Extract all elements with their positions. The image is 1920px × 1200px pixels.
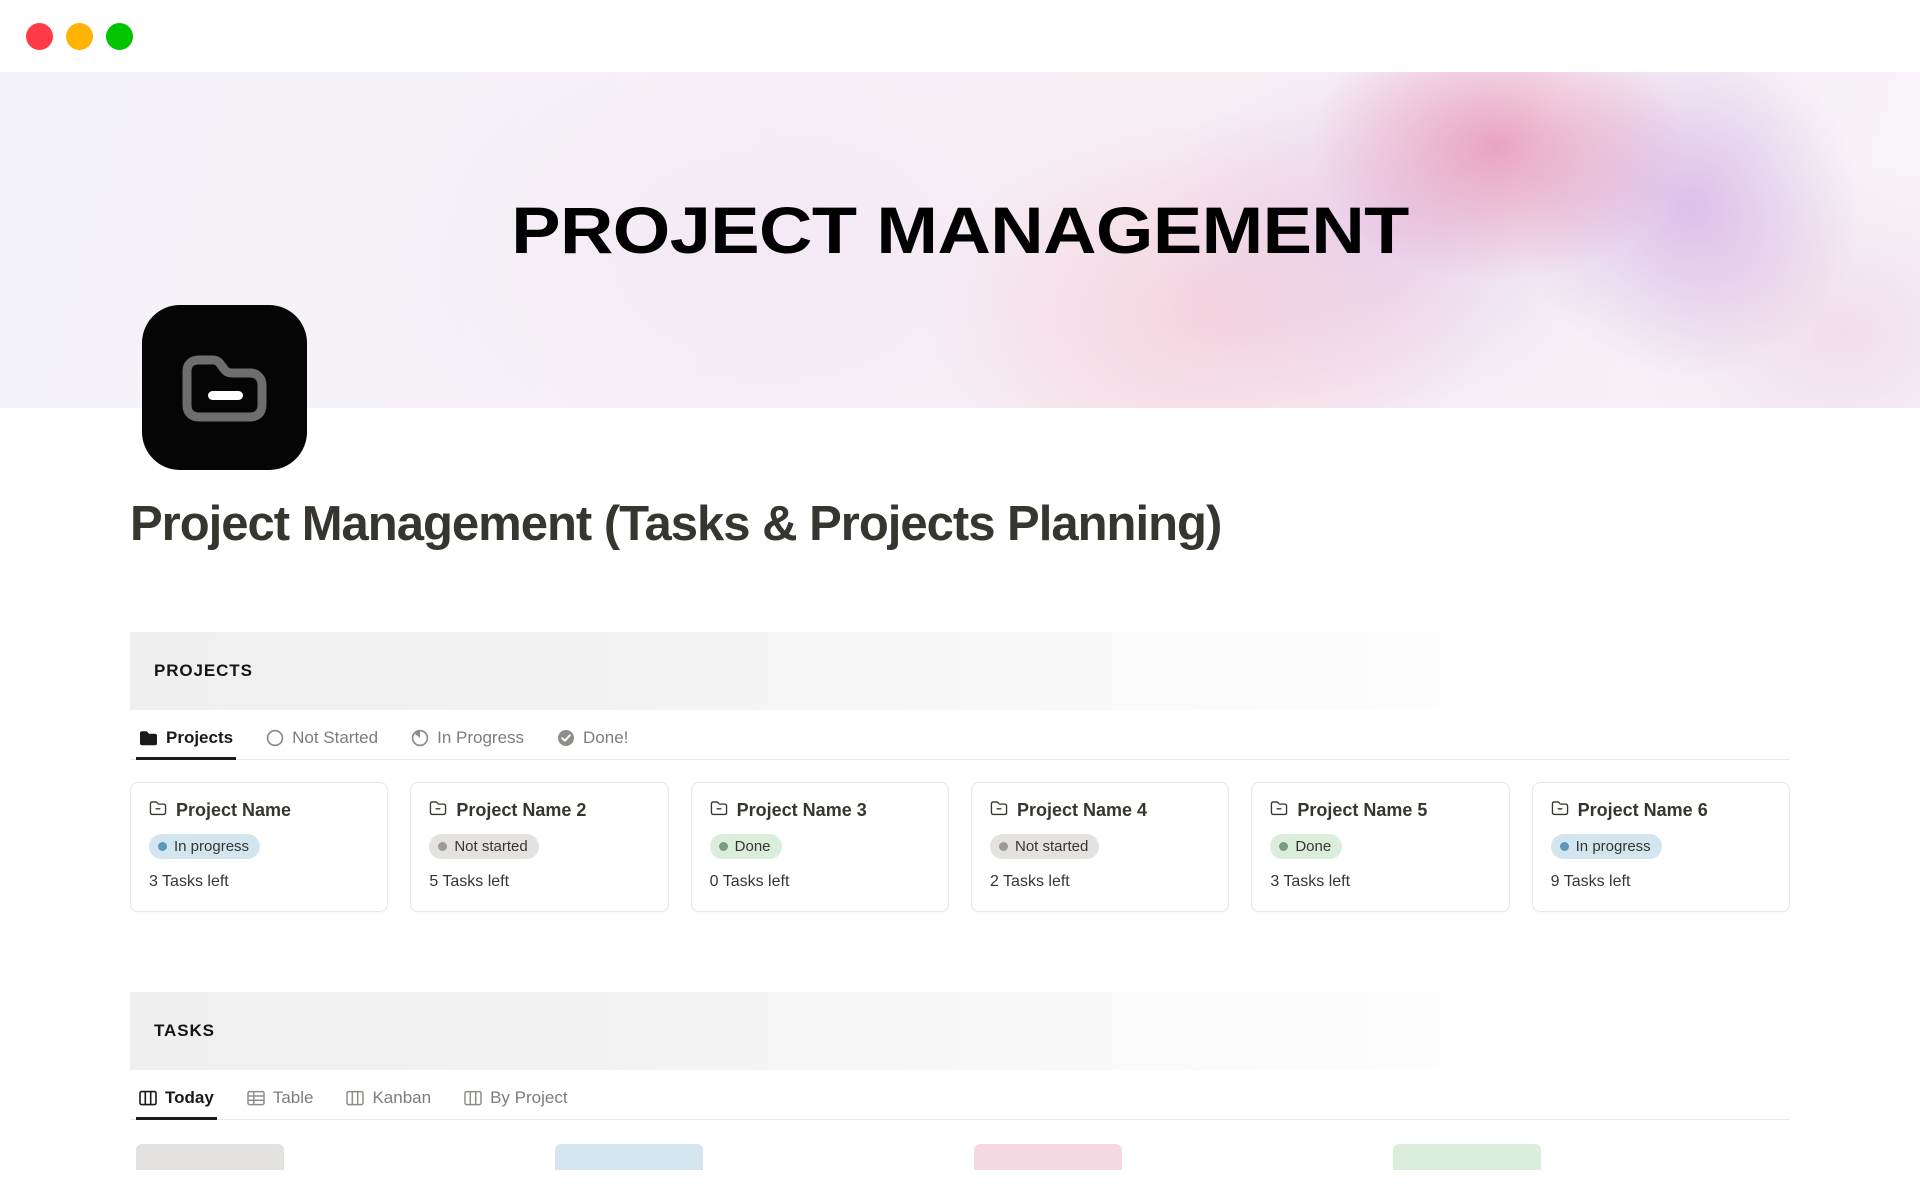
tab-today-label: Today [165,1088,214,1108]
kanban-column-header[interactable] [974,1144,1122,1170]
status-badge: In progress [149,834,260,859]
status-dot-icon [438,842,447,851]
status-badge-label: Done [1295,838,1331,855]
projects-section-label: PROJECTS [154,661,253,681]
tab-kanban[interactable]: Kanban [343,1084,434,1119]
project-card-title: Project Name 4 [1017,800,1147,821]
status-badge-label: In progress [1576,838,1651,855]
project-card-head: Project Name 2 [429,800,649,821]
status-badge: Done [1270,834,1342,859]
project-card-head: Project Name 4 [990,800,1210,821]
page-icon[interactable] [142,305,307,470]
folder-minus-icon [710,800,728,821]
tasks-section-label: TASKS [154,1021,215,1041]
tab-not-started-label: Not Started [292,728,378,748]
project-card-title: Project Name 5 [1297,800,1427,821]
project-card-tasks-left: 2 Tasks left [990,873,1210,891]
project-card-tasks-left: 3 Tasks left [149,873,369,891]
folder-icon [139,730,158,746]
status-badge-label: Not started [454,838,527,855]
project-card-tasks-left: 9 Tasks left [1551,873,1771,891]
project-card[interactable]: Project Name 4 Not started 2 Tasks left [971,782,1229,912]
status-badge-label: In progress [174,838,249,855]
project-card-title: Project Name 2 [456,800,586,821]
project-card-title: Project Name [176,800,291,821]
project-card-tasks-left: 5 Tasks left [429,873,649,891]
kanban-column[interactable] [974,1144,1371,1170]
status-badge-label: Done [735,838,771,855]
tab-projects[interactable]: Projects [136,724,236,759]
project-card-head: Project Name 5 [1270,800,1490,821]
app-window: PROJECT MANAGEMENT Project Management (T… [0,0,1920,1200]
project-card-head: Project Name 6 [1551,800,1771,821]
tab-table[interactable]: Table [244,1084,317,1119]
project-card-tasks-left: 3 Tasks left [1270,873,1490,891]
project-card-title: Project Name 6 [1578,800,1708,821]
tasks-tabbar: Today Table [130,1084,1790,1120]
board-icon [346,1090,364,1106]
status-badge-label: Not started [1015,838,1088,855]
table-icon [247,1090,265,1106]
maximize-window-button[interactable] [106,23,133,50]
projects-tabbar: Projects Not Started In Progress [130,724,1790,760]
tab-done-label: Done! [583,728,628,748]
project-card-head: Project Name [149,800,369,821]
folder-minus-icon [1551,800,1569,821]
project-cards-list: Project Name In progress 3 Tasks left [130,782,1790,912]
tab-not-started[interactable]: Not Started [263,724,381,759]
kanban-column-header[interactable] [1393,1144,1541,1170]
tab-in-progress[interactable]: In Progress [408,724,527,759]
project-card[interactable]: Project Name 2 Not started 5 Tasks left [410,782,668,912]
status-badge: Not started [990,834,1099,859]
folder-minus-icon [149,800,167,821]
kanban-column[interactable] [1393,1144,1790,1170]
tab-by-project-label: By Project [490,1088,567,1108]
tab-today[interactable]: Today [136,1084,217,1119]
folder-minus-icon [429,800,447,821]
kanban-column-header[interactable] [555,1144,703,1170]
projects-section-banner: PROJECTS [130,632,1790,710]
status-badge: Not started [429,834,538,859]
tab-kanban-label: Kanban [372,1088,431,1108]
tasks-section-banner: TASKS [130,992,1790,1070]
status-badge: Done [710,834,782,859]
circle-icon [266,729,284,747]
status-badge: In progress [1551,834,1662,859]
status-dot-icon [999,842,1008,851]
project-card[interactable]: Project Name 5 Done 3 Tasks left [1251,782,1509,912]
board-icon [139,1090,157,1106]
folder-minus-icon [990,800,1008,821]
status-dot-icon [1279,842,1288,851]
kanban-column-header[interactable] [136,1144,284,1170]
page-content: Project Management (Tasks & Projects Pla… [0,408,1920,1170]
board-icon [464,1090,482,1106]
status-dot-icon [158,842,167,851]
window-titlebar [0,0,1920,72]
tab-done[interactable]: Done! [554,724,631,759]
kanban-column[interactable] [555,1144,952,1170]
project-card[interactable]: Project Name 6 In progress 9 Tasks left [1532,782,1790,912]
project-card-tasks-left: 0 Tasks left [710,873,930,891]
tab-projects-label: Projects [166,728,233,748]
kanban-column[interactable] [136,1144,533,1170]
tab-in-progress-label: In Progress [437,728,524,748]
tab-by-project[interactable]: By Project [461,1084,570,1119]
clock-pie-icon [411,729,429,747]
minimize-window-button[interactable] [66,23,93,50]
status-dot-icon [719,842,728,851]
close-window-button[interactable] [26,23,53,50]
project-card-head: Project Name 3 [710,800,930,821]
cover-title-text: PROJECT MANAGEMENT [0,192,1920,268]
tab-table-label: Table [273,1088,314,1108]
check-circle-icon [557,729,575,747]
project-card[interactable]: Project Name In progress 3 Tasks left [130,782,388,912]
kanban-columns [130,1144,1790,1170]
project-card-title: Project Name 3 [737,800,867,821]
status-dot-icon [1560,842,1569,851]
project-card[interactable]: Project Name 3 Done 0 Tasks left [691,782,949,912]
folder-minus-icon [1270,800,1288,821]
page-title: Project Management (Tasks & Projects Pla… [130,498,1790,552]
